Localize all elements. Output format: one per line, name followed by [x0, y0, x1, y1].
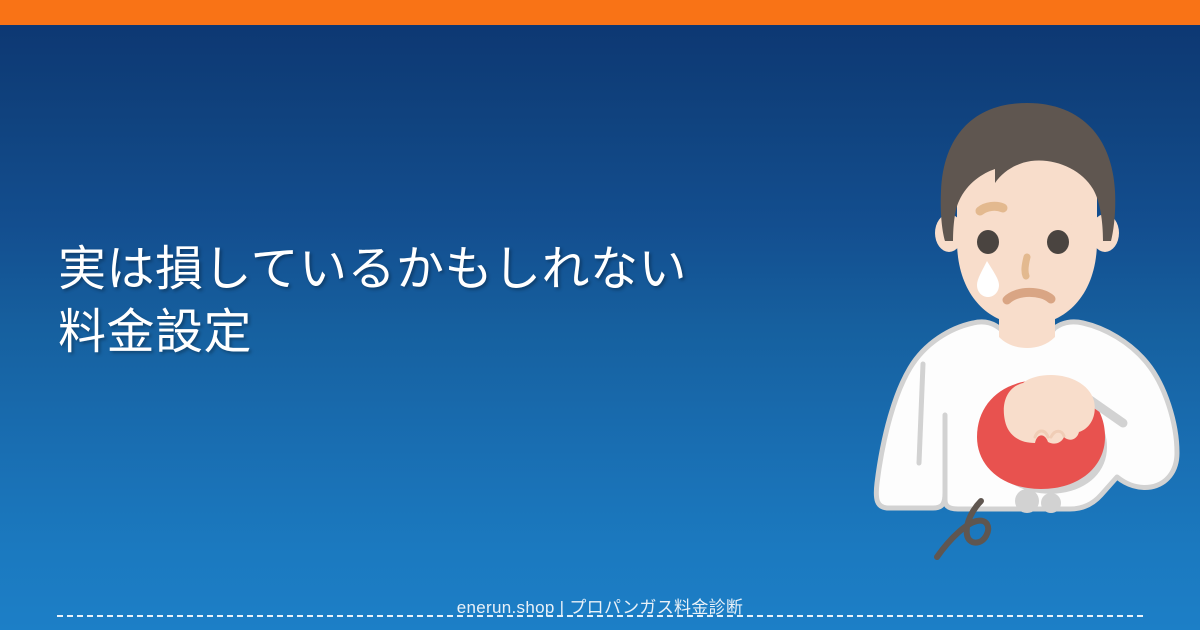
footer-divider [57, 615, 1143, 617]
sad-man-illustration [855, 85, 1200, 565]
slide-background: 実は損しているかもしれない 料金設定 [0, 25, 1200, 630]
eye-left [977, 230, 999, 254]
slide-canvas: 実は損しているかもしれない 料金設定 [0, 0, 1200, 630]
page-title: 実は損しているかもしれない 料金設定 [58, 238, 818, 364]
purse-clasp-bead-right [1041, 493, 1061, 513]
eyebrow-left [980, 206, 1003, 211]
purse-clasp-bead-left [1015, 489, 1039, 513]
top-accent-bar [0, 0, 1200, 25]
nose [1025, 257, 1027, 276]
sad-man-illustration-svg [855, 85, 1200, 565]
eye-right [1047, 230, 1069, 254]
